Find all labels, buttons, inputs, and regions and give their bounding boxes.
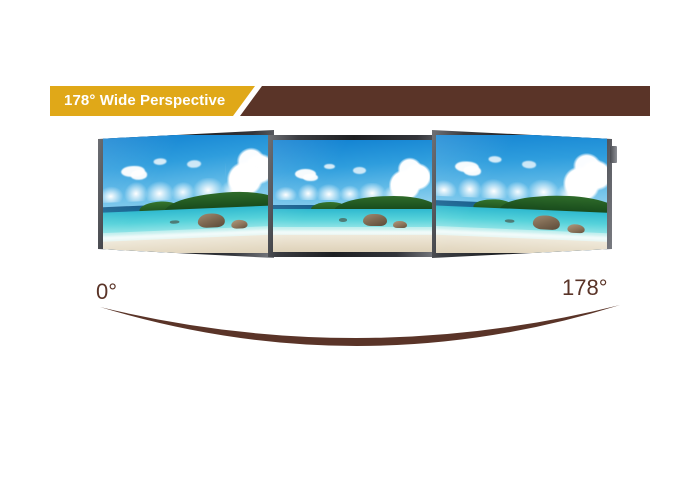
panel-screen-clip: [432, 130, 612, 258]
beach-image: [273, 140, 433, 252]
cloud-small-icon: [131, 170, 147, 180]
display-panel-left[interactable]: [98, 130, 274, 258]
rock-medium: [232, 219, 248, 229]
rock-small: [339, 218, 347, 221]
cloud-small-icon: [464, 166, 481, 176]
beach-image: [103, 135, 270, 253]
panel-screen-clip: [98, 130, 274, 258]
panel-screen: [273, 140, 433, 252]
cloud-small-icon: [353, 167, 366, 174]
arc-crescent: [100, 305, 620, 346]
display-panel-right[interactable]: [432, 130, 612, 258]
cloud-small-icon: [488, 156, 501, 163]
display-panel-center[interactable]: [268, 135, 438, 257]
viewing-angle-arc: [0, 290, 700, 380]
section-banner: 178° Wide Perspective: [50, 86, 650, 116]
panel-screen: [103, 135, 270, 253]
rock-medium: [568, 224, 585, 234]
rock-large: [197, 213, 224, 228]
panel-screen: [436, 135, 607, 253]
cloud-small-icon: [154, 158, 167, 165]
rock-large: [363, 214, 387, 226]
display-wall: [0, 130, 700, 280]
panel-screen-clip: [268, 135, 438, 257]
sand-layer: [273, 235, 433, 252]
rock-medium: [393, 221, 407, 229]
banner-bar: [240, 86, 650, 116]
banner-title: 178° Wide Perspective: [64, 86, 225, 116]
illustration-canvas: 178° Wide Perspective: [0, 0, 700, 500]
rock-small: [505, 219, 514, 223]
panel-side-connector: [610, 146, 617, 163]
beach-image: [436, 135, 607, 253]
